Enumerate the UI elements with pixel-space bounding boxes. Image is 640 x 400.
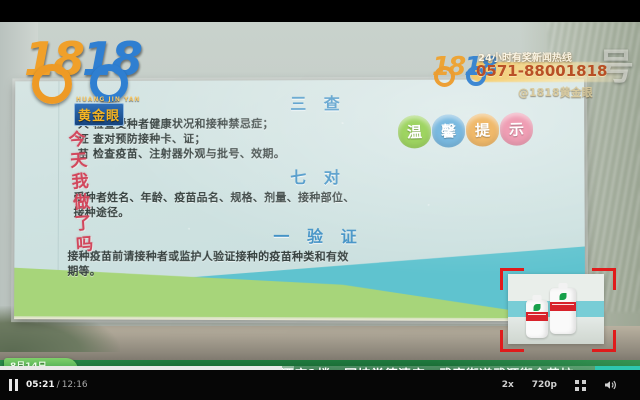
- red-note-char-1: 今: [58, 129, 97, 153]
- progress-chapter-accent: [595, 366, 640, 370]
- bracket-top-right-v: [613, 268, 616, 290]
- section-heading-yiyanzheng: 一 验 证: [68, 223, 573, 248]
- qidui-para-2: 接种途径。: [68, 205, 573, 220]
- channel-logo-1818: 1818 HUANG JIN YAN 黄金眼: [22, 36, 154, 118]
- tip-char-4: 示: [500, 112, 534, 146]
- tip-char-3: 提: [466, 113, 500, 147]
- logo-name-cn: 黄金眼: [74, 103, 124, 126]
- tip-char-1: 温: [398, 115, 432, 149]
- bracket-top-left-v: [500, 268, 503, 290]
- bracket-bottom-left-h: [500, 349, 524, 352]
- playback-speed-button[interactable]: 2x: [502, 380, 514, 390]
- bracket-bottom-right-v: [613, 330, 616, 352]
- yanzheng-para-2: 期等。: [67, 264, 572, 280]
- focus-bracket-overlay: [500, 268, 616, 352]
- logo-pinyin: HUANG JIN YAN: [76, 96, 140, 103]
- video-frame[interactable]: 三 查 人检查受种者健康状况和接种禁忌症； 证查对预防接种卡、证； 苗检查疫苗、…: [0, 22, 640, 370]
- bracket-bottom-left-v: [500, 330, 503, 352]
- pause-icon[interactable]: [9, 379, 18, 391]
- hotline-ring-orange: [434, 66, 455, 87]
- time-separator: /: [57, 380, 60, 390]
- sancha-text-2: 查对预防接种卡、证；: [93, 132, 206, 145]
- video-player-page: 三 查 人检查受种者健康状况和接种禁忌症； 证查对预防接种卡、证； 苗检查疫苗、…: [0, 0, 640, 400]
- red-note-char-4: 做: [62, 192, 101, 216]
- tip-char-2: 馨: [432, 114, 466, 148]
- quality-button[interactable]: 720p: [532, 380, 557, 390]
- fullscreen-icon[interactable]: [575, 380, 586, 391]
- player-controls: 05:21/12:16 2x 720p: [0, 372, 640, 398]
- qidui-para-1: 受种者姓名、年龄、疫苗品名、规格、剂量、接种部位、: [68, 190, 573, 205]
- tip-badge: 温 馨 提 示: [398, 112, 534, 149]
- progress-played: [0, 366, 282, 370]
- progress-bar[interactable]: [0, 366, 640, 370]
- letterbox-top: [0, 0, 640, 22]
- time-display: 05:21/12:16: [26, 380, 88, 390]
- sancha-text-3: 检查疫苗、注射器外观与批号、效期。: [93, 147, 285, 160]
- red-note-char-3: 我: [61, 171, 100, 195]
- sancha-line-3: 苗检查疫苗、注射器外观与批号、效期。: [68, 146, 572, 162]
- section-heading-qidui: 七 对: [68, 164, 572, 188]
- hotline-watermark: 1818 号 24小时有奖新闻热线 0571-88001818 @1818黄金眼: [412, 48, 636, 110]
- volume-icon[interactable]: [604, 379, 618, 391]
- bracket-top-left-h: [500, 268, 524, 271]
- red-note-char-2: 天: [59, 150, 98, 174]
- red-note-char-5: 了: [64, 213, 103, 237]
- red-note-char-6: 吗: [65, 234, 104, 258]
- yanzheng-para-1: 接种疫苗前请接种者或监护人验证接种的疫苗种类和有效: [68, 249, 573, 265]
- hotline-number: 0571-88001818: [476, 62, 607, 80]
- hotline-account: @1818黄金眼: [518, 84, 593, 100]
- logo-ring-orange: [32, 64, 72, 104]
- controls-left-group: 05:21/12:16: [0, 379, 88, 391]
- controls-right-group: 2x 720p: [502, 379, 640, 391]
- duration: 12:16: [62, 380, 88, 390]
- current-time: 05:21: [26, 380, 55, 390]
